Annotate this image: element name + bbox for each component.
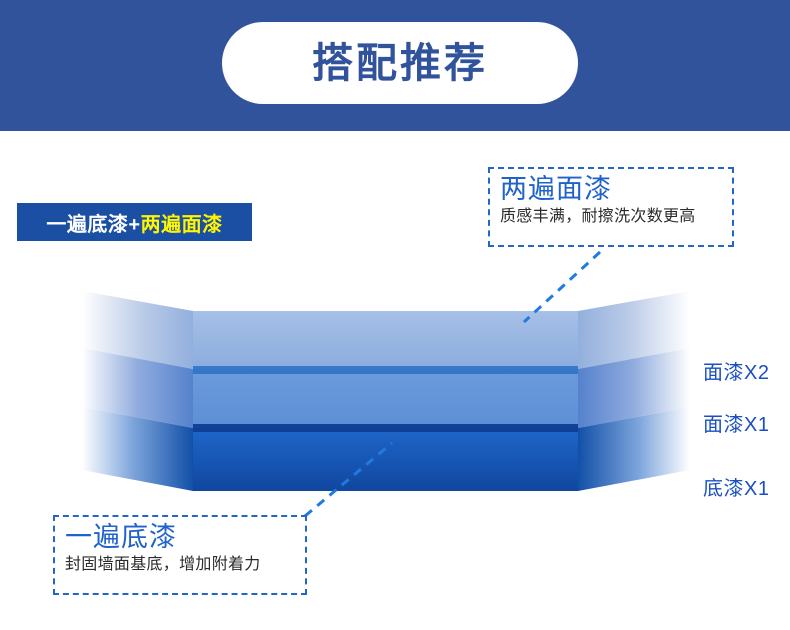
title-pill: 搭配推荐 — [222, 22, 578, 104]
callout-primer-title: 一遍底漆 — [65, 523, 295, 552]
layer-label-primer-1: 底漆X1 — [703, 472, 769, 501]
badge-primer-label: 一遍底漆+ — [46, 208, 140, 237]
primer-edge — [193, 424, 578, 432]
primer-left-wing — [82, 407, 193, 491]
topcoat-first-right-wing — [578, 348, 690, 428]
layer-label-topcoat-1: 面漆X1 — [703, 408, 769, 437]
callout-primer: 一遍底漆 封固墙面基底，增加附着力 — [53, 515, 307, 595]
topcoat-second-face — [193, 311, 578, 369]
primer-right-wing — [578, 407, 690, 491]
header-band: 搭配推荐 — [0, 0, 790, 131]
topcoat-first-face — [193, 369, 578, 428]
diagram-layer-topcoat-second — [82, 291, 690, 369]
diagram-layer-topcoat-first — [82, 348, 690, 428]
callout-topcoat-subtitle: 质感丰满，耐擦洗次数更高 — [500, 207, 722, 226]
primer-face — [193, 428, 578, 491]
topcoat-second-left-wing — [82, 291, 193, 369]
leader-line-topcoat — [524, 252, 600, 322]
combination-badge: 一遍底漆+两遍面漆 — [17, 203, 252, 241]
page-title: 搭配推荐 — [312, 43, 488, 84]
diagram-layer-primer — [82, 407, 690, 491]
topcoat-first-edge — [193, 366, 578, 374]
callout-topcoat: 两遍面漆 质感丰满，耐擦洗次数更高 — [488, 167, 734, 247]
callout-topcoat-title: 两遍面漆 — [500, 175, 722, 204]
topcoat-second-right-wing — [578, 291, 690, 369]
layer-label-topcoat-2: 面漆X2 — [703, 356, 769, 385]
page-root: 搭配推荐 一遍底漆+两遍面漆 — [0, 0, 790, 630]
badge-topcoat-label: 两遍面漆 — [141, 208, 223, 237]
leader-line-primer — [305, 443, 392, 516]
callout-primer-subtitle: 封固墙面基底，增加附着力 — [65, 555, 295, 574]
topcoat-first-left-wing — [82, 348, 193, 428]
